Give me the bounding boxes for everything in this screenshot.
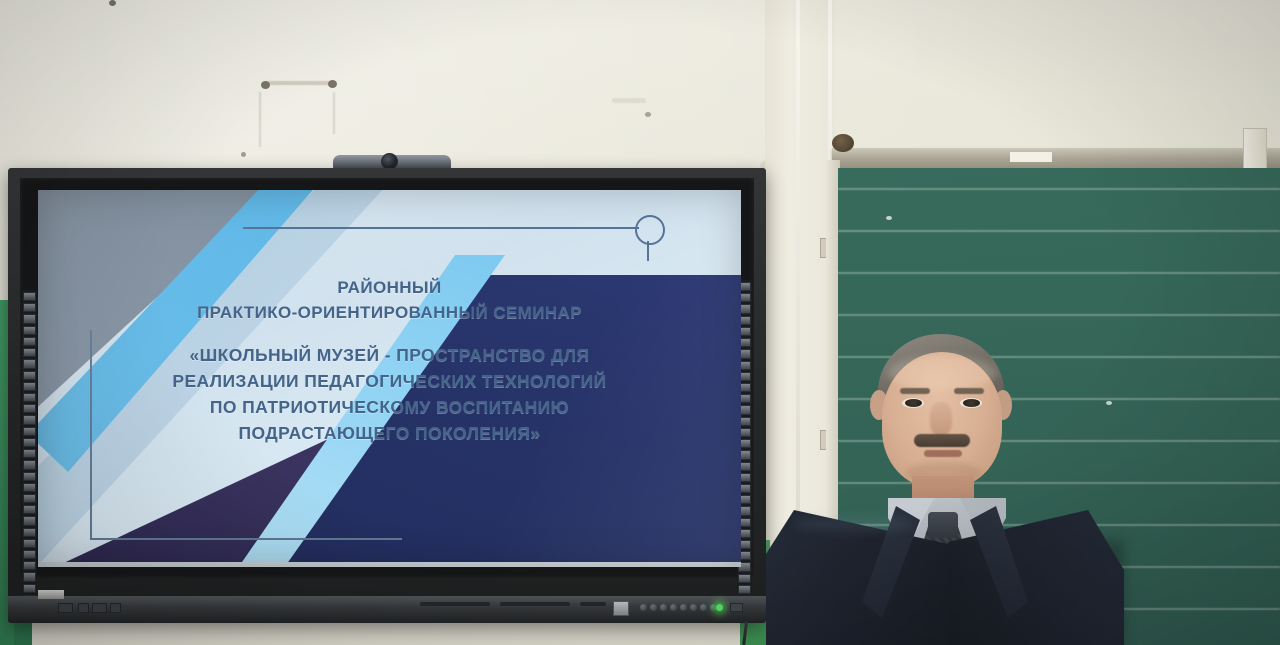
forehead-highlight	[888, 356, 996, 390]
moustache	[914, 434, 970, 447]
eye-right	[963, 399, 980, 407]
ir-sensor-cell	[23, 404, 36, 413]
display-screen[interactable]: РАЙОННЫЙ ПРАКТИКО-ОРИЕНТИРОВАННЫЙ СЕМИНА…	[38, 190, 741, 567]
ir-sensor-cell	[23, 449, 36, 458]
nose	[930, 402, 952, 436]
chalkboard-rail	[832, 148, 1280, 170]
chalkboard-rule-line	[838, 314, 1280, 316]
control-key[interactable]	[690, 604, 697, 611]
pin-stem-icon	[647, 241, 649, 261]
panel-port[interactable]	[110, 603, 121, 613]
wall-hairline	[333, 92, 335, 134]
slide-bottom-edge	[38, 562, 741, 567]
panel-port[interactable]	[58, 603, 73, 613]
panel-port[interactable]	[92, 603, 107, 613]
eyebrow-right	[954, 388, 984, 394]
ir-sensor-cell	[23, 584, 36, 593]
chalkboard-rule-line	[838, 272, 1280, 274]
chalkboard-mount-bracket	[1243, 128, 1267, 170]
ir-sensor-cell	[23, 505, 36, 514]
chalkboard-rule-line	[838, 230, 1280, 232]
control-key[interactable]	[700, 604, 707, 611]
brand-logo	[38, 590, 64, 599]
ir-sensor-cell	[23, 292, 36, 301]
ir-sensor-cell	[23, 516, 36, 525]
ir-sensor-cell	[23, 539, 36, 548]
control-key[interactable]	[680, 604, 687, 611]
wall-speck	[645, 112, 651, 117]
wall-smudge	[266, 81, 330, 85]
ir-sensor-cell	[23, 572, 36, 581]
ir-sensor-cell	[23, 472, 36, 481]
ir-receiver-icon	[730, 603, 743, 612]
ir-sensor-cell	[23, 337, 36, 346]
horizontal-rule	[243, 227, 639, 229]
mouth	[924, 450, 962, 457]
pin-circle-icon	[635, 215, 665, 245]
ir-sensor-cell	[23, 427, 36, 436]
slide-canvas: РАЙОННЫЙ ПРАКТИКО-ОРИЕНТИРОВАННЫЙ СЕМИНА…	[38, 190, 741, 567]
control-key[interactable]	[640, 604, 647, 611]
chalkboard-rule-line	[838, 188, 1280, 190]
ir-sensor-cell	[23, 382, 36, 391]
ir-sensor-cell	[23, 561, 36, 570]
interactive-display-panel[interactable]: РАЙОННЫЙ ПРАКТИКО-ОРИЕНТИРОВАННЫЙ СЕМИНА…	[8, 168, 766, 623]
ir-sensor-cell	[23, 314, 36, 323]
ir-sensor-cell	[23, 326, 36, 335]
slide-heading: РАЙОННЫЙ ПРАКТИКО-ОРИЕНТИРОВАННЫЙ СЕМИНА…	[38, 275, 741, 325]
wall-smudge	[612, 98, 646, 103]
ir-sensor-cell	[23, 550, 36, 559]
usb-port-icon[interactable]	[613, 601, 629, 616]
ir-sensor-cell	[23, 483, 36, 492]
classroom-photo-scene: РАЙОННЫЙ ПРАКТИКО-ОРИЕНТИРОВАННЫЙ СЕМИНА…	[0, 0, 1280, 645]
ir-sensor-cell	[23, 460, 36, 469]
ir-sensor-cell	[23, 494, 36, 503]
eye-left	[905, 399, 922, 407]
chalk-mark	[886, 216, 892, 220]
ir-sensor-cell	[738, 585, 751, 594]
wall-hairline	[259, 92, 261, 147]
ir-sensor-cell	[738, 574, 751, 583]
speaker-grille	[420, 602, 490, 606]
control-key[interactable]	[660, 604, 667, 611]
necktie-knot	[928, 512, 958, 538]
ir-sensor-cell	[23, 528, 36, 537]
speaker-grille	[500, 602, 570, 606]
ir-sensor-cell	[23, 415, 36, 424]
ir-sensor-cell	[23, 359, 36, 368]
ir-sensor-cell	[23, 438, 36, 447]
ir-touch-sensor-strip-left	[22, 290, 37, 604]
panel-port[interactable]	[78, 603, 89, 613]
power-led-indicator	[716, 604, 723, 611]
wall-anchor-hole	[832, 134, 854, 152]
chalkboard-rail-paper	[1010, 152, 1052, 162]
eyebrow-left	[900, 388, 930, 394]
wall-speck	[109, 0, 116, 6]
control-key[interactable]	[650, 604, 657, 611]
control-key[interactable]	[670, 604, 677, 611]
ir-sensor-cell	[23, 371, 36, 380]
ir-sensor-cell	[23, 303, 36, 312]
presenter	[770, 330, 1130, 645]
slide-body: «ШКОЛЬНЫЙ МУЗЕЙ - ПРОСТРАНСТВО ДЛЯ РЕАЛИ…	[38, 342, 741, 446]
panel-control-keys[interactable]	[640, 604, 717, 611]
shoulder-highlight	[794, 516, 914, 532]
ir-sensor-cell	[23, 393, 36, 402]
speaker-grille	[580, 602, 606, 606]
ir-sensor-cell	[23, 348, 36, 357]
wall-speck	[241, 152, 246, 157]
